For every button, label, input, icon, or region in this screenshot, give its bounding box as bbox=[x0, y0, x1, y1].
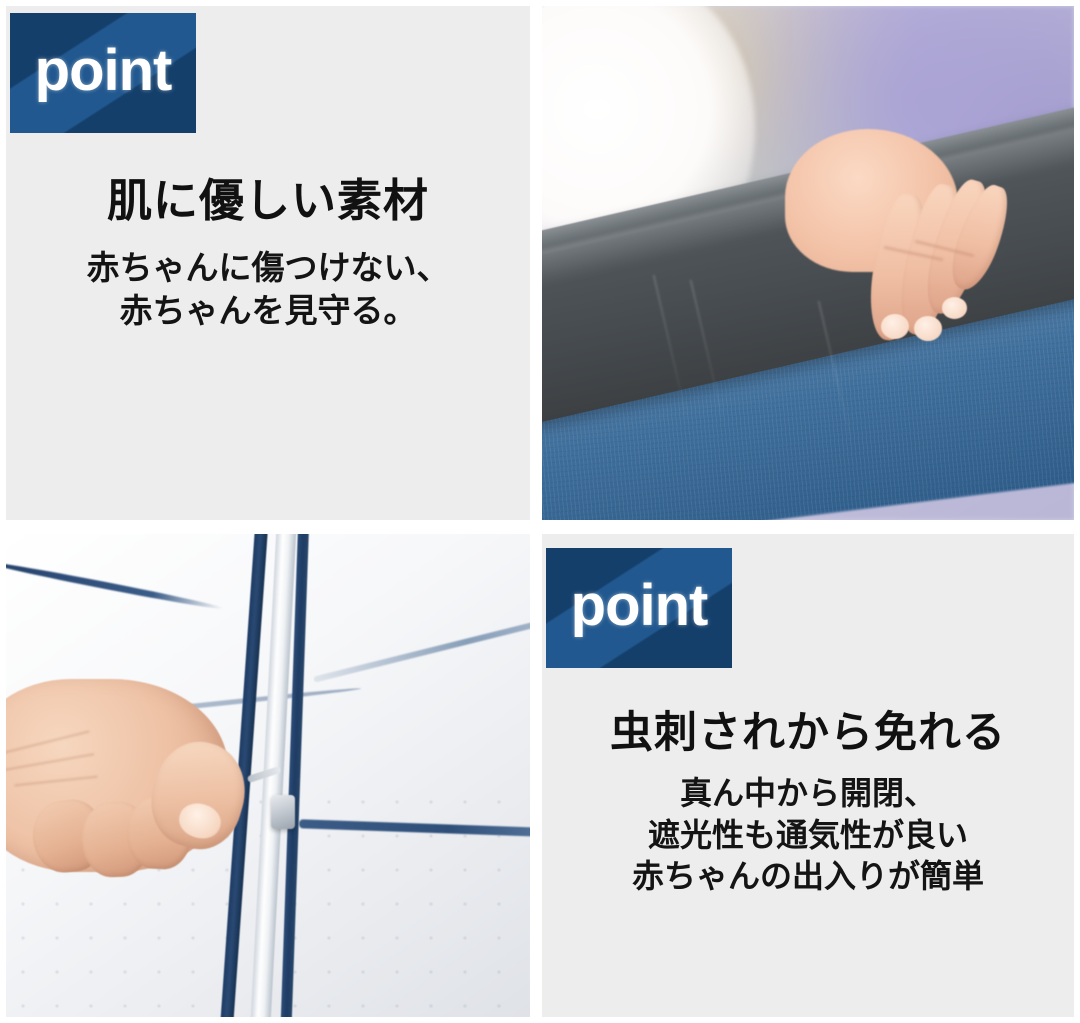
baby-fingernail bbox=[914, 316, 942, 341]
point-badge-label-1: point bbox=[10, 13, 196, 133]
point-badge-1: point bbox=[10, 13, 196, 133]
point-badge-2: point bbox=[546, 548, 732, 668]
product-feature-infographic: point 肌に優しい素材 赤ちゃんに傷つけない、 赤ちゃんを見守る。 bbox=[0, 0, 1080, 1023]
point-badge-label-2: point bbox=[546, 548, 732, 668]
subtext-line: 赤ちゃんに傷つけない、 bbox=[6, 246, 530, 290]
subtext-line: 遮光性も通気性が良い bbox=[542, 815, 1074, 857]
feature-text-block-2: 虫刺されから免れる 真ん中から開閉、 遮光性も通気性が良い 赤ちゃんの出入りが簡… bbox=[542, 710, 1074, 898]
feature-panel-2: point 虫刺されから免れる 真ん中から開閉、 遮光性も通気性が良い 赤ちゃん… bbox=[542, 534, 1074, 1017]
feature-photo-hand-on-zipper bbox=[6, 534, 530, 1017]
feature-photo-baby-hand-on-rail bbox=[542, 6, 1074, 520]
feature-heading-1: 肌に優しい素材 bbox=[6, 176, 530, 226]
panel-background-1: point 肌に優しい素材 赤ちゃんに傷つけない、 赤ちゃんを見守る。 bbox=[6, 6, 530, 520]
feature-heading-2: 虫刺されから免れる bbox=[542, 710, 1074, 757]
feature-subtext-1: 赤ちゃんに傷つけない、 赤ちゃんを見守る。 bbox=[6, 246, 530, 333]
feature-subtext-2: 真ん中から開閉、 遮光性も通気性が良い 赤ちゃんの出入りが簡単 bbox=[542, 773, 1074, 898]
baby-fingernail bbox=[942, 297, 968, 319]
baby-hand bbox=[771, 119, 1005, 366]
adult-hand bbox=[6, 664, 299, 906]
photo-baby-hand-on-rail bbox=[542, 6, 1074, 520]
photo-hand-on-zipper bbox=[6, 534, 530, 1017]
subtext-line: 赤ちゃんを見守る。 bbox=[6, 289, 530, 333]
feature-text-block-1: 肌に優しい素材 赤ちゃんに傷つけない、 赤ちゃんを見守る。 bbox=[6, 176, 530, 333]
baby-fingernail bbox=[881, 314, 909, 339]
subtext-line: 真ん中から開閉、 bbox=[542, 773, 1074, 815]
feature-panel-1: point 肌に優しい素材 赤ちゃんに傷つけない、 赤ちゃんを見守る。 bbox=[6, 6, 530, 520]
panel-background-2: point 虫刺されから免れる 真ん中から開閉、 遮光性も通気性が良い 赤ちゃん… bbox=[542, 534, 1074, 1017]
subtext-line: 赤ちゃんの出入りが簡単 bbox=[542, 856, 1074, 898]
